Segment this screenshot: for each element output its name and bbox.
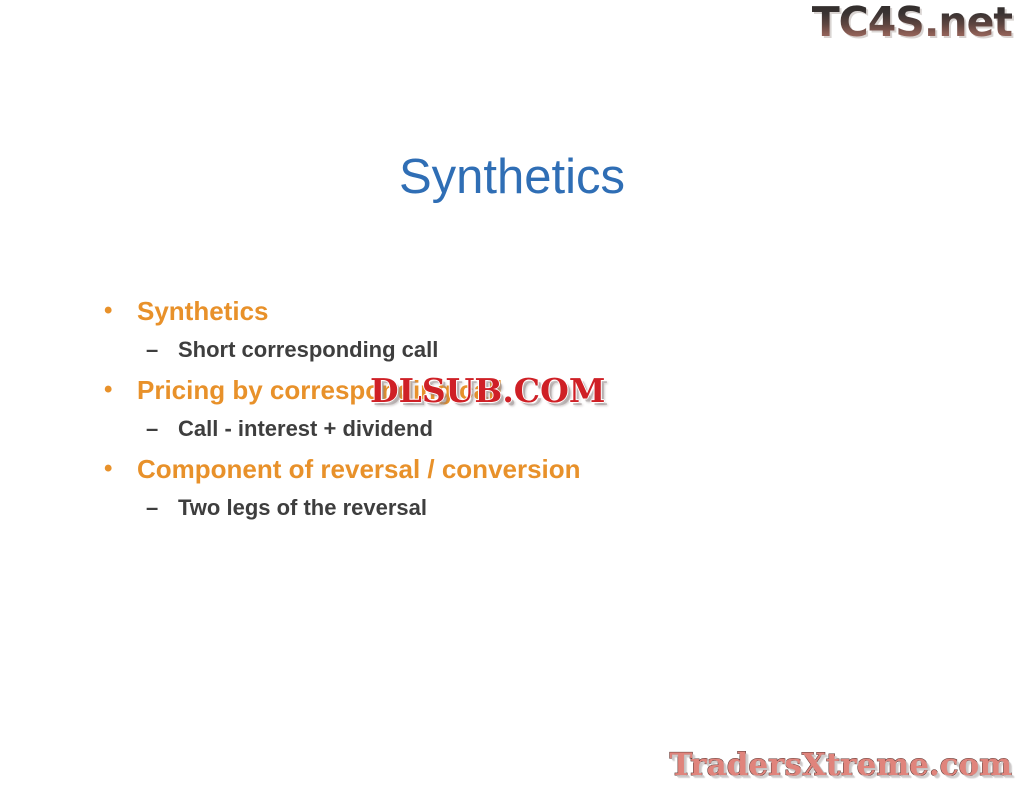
bullet-level2-label: Short corresponding call [178, 336, 928, 363]
bullet-level1-label: Component of reversal / conversion [137, 454, 928, 486]
tc4s-brand-logo: TC4S.net [812, 2, 1012, 43]
bullet-level2-label: Two legs of the reversal [178, 494, 928, 521]
tradersxtreme-watermark: TradersXtreme.com [669, 750, 1012, 781]
bullet-level2-short-corresponding-call: – Short corresponding call [98, 336, 928, 363]
bullet-level2-call-interest-dividend: – Call - interest + dividend [98, 415, 928, 442]
bullet-level2-label: Call - interest + dividend [178, 415, 928, 442]
bullet-dot-icon: • [98, 454, 137, 484]
dlsub-watermark: DLSUB.COM [366, 372, 609, 409]
presentation-slide: TC4S.net Synthetics • Synthetics – Short… [0, 0, 1024, 791]
bullet-dash-icon: – [98, 415, 178, 442]
bullet-dash-icon: – [98, 336, 178, 363]
bullet-level1-synthetics: • Synthetics [98, 296, 928, 328]
bullet-level1-component-reversal: • Component of reversal / conversion [98, 454, 928, 486]
bullet-dot-icon: • [98, 296, 137, 326]
bullet-dash-icon: – [98, 494, 178, 521]
bullet-group-3: • Component of reversal / conversion – T… [98, 454, 928, 521]
bullet-group-1: • Synthetics – Short corresponding call [98, 296, 928, 363]
bullet-dot-icon: • [98, 375, 137, 405]
bullet-level2-two-legs-reversal: – Two legs of the reversal [98, 494, 928, 521]
slide-title: Synthetics [0, 151, 1024, 205]
bullet-level1-label: Synthetics [137, 296, 928, 328]
